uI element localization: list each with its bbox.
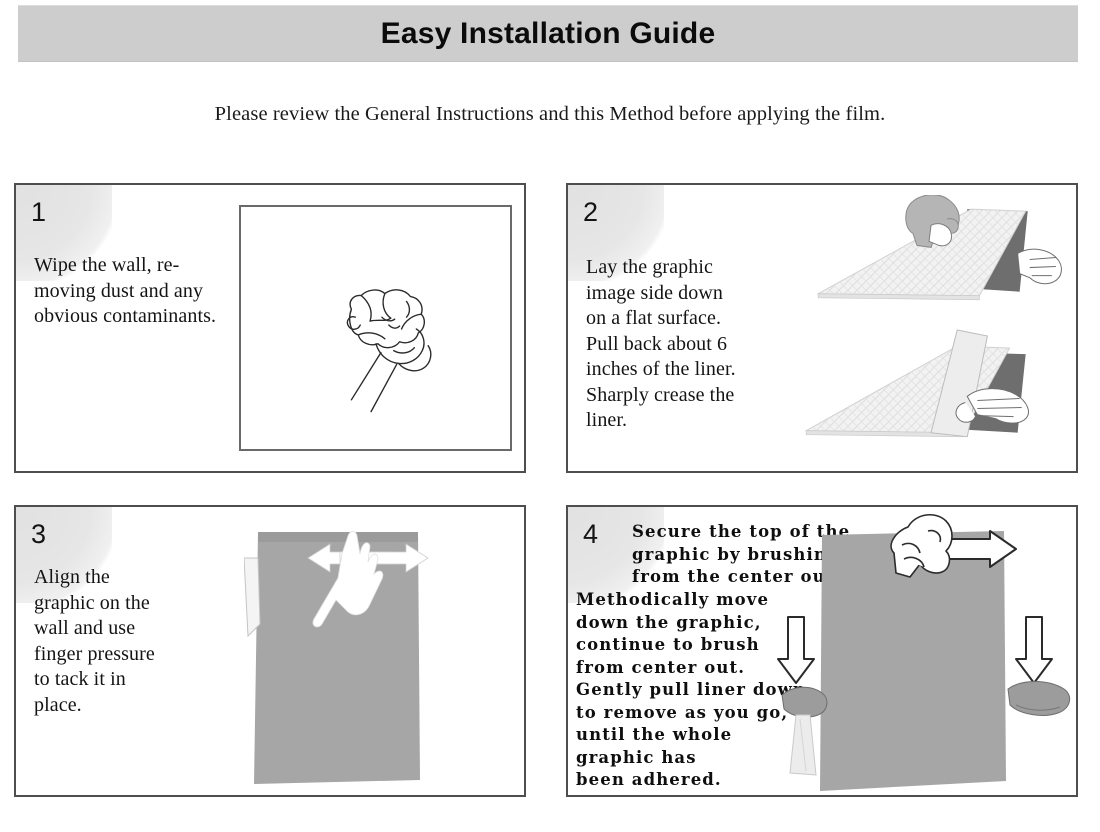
step-1-image-frame: [239, 205, 512, 451]
lower-sheet-scene: [806, 330, 1028, 437]
subtitle-instruction: Please review the General Instructions a…: [0, 103, 1100, 126]
align-graphic-illustration: [244, 512, 494, 792]
step-number-4: 4: [583, 521, 598, 548]
step-panel-3: 3 Align the graphic on the wall and use …: [14, 505, 526, 797]
step-number-1: 1: [31, 199, 46, 226]
step-number-3: 3: [31, 521, 46, 548]
page-title: Easy Installation Guide: [18, 5, 1078, 62]
step-text-1: Wipe the wall, re- moving dust and any o…: [34, 253, 249, 330]
hand-wiping-cloth-illustration: [241, 207, 510, 449]
left-liner-peel-icon: [782, 687, 827, 775]
arrow-down-right-icon: [1016, 617, 1052, 683]
arrow-down-left-icon: [778, 617, 814, 683]
upper-sheet-scene: [818, 195, 1061, 300]
brush-graphic-illustration: [776, 509, 1076, 797]
step-panel-4: 4 Secure the top of the graphic by brush…: [566, 505, 1078, 797]
step-panel-1: 1 Wipe the wall, re- moving dust and any…: [14, 183, 526, 473]
step-number-2: 2: [583, 199, 598, 226]
step-text-3: Align the graphic on the wall and use fi…: [34, 565, 209, 718]
liner-peel-illustration: [780, 195, 1072, 467]
right-liner-peel-icon: [1008, 682, 1070, 716]
step-panel-2: 2 Lay the graphic image side down on a f…: [566, 183, 1078, 473]
header-bar: Easy Installation Guide: [18, 5, 1078, 62]
step-text-2: Lay the graphic image side down on a fla…: [586, 255, 766, 434]
